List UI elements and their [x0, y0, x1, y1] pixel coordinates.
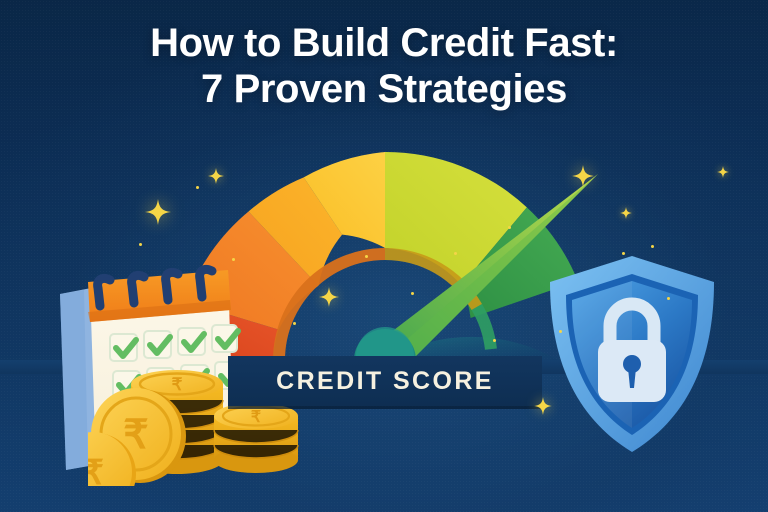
coin-stack-short: ₹: [214, 403, 298, 473]
sparkle-dot: [139, 243, 142, 246]
sparkle-dot: [667, 297, 670, 300]
credit-score-blog-hero: How to Build Credit Fast: 7 Proven Strat…: [0, 0, 768, 512]
page-title: How to Build Credit Fast: 7 Proven Strat…: [0, 20, 768, 113]
sparkle-dot: [411, 292, 414, 295]
sparkle-star: [319, 287, 339, 307]
sparkle-dot: [622, 252, 625, 255]
security-shield: [542, 252, 722, 458]
sparkle-dot: [493, 339, 496, 342]
sparkle-dot: [651, 245, 654, 248]
rupee-symbol-short: ₹: [251, 409, 261, 426]
sparkle-dot: [365, 255, 368, 258]
sparkle-dot: [454, 252, 457, 255]
rupee-symbol-tall: ₹: [172, 375, 183, 394]
sparkle-dot: [559, 330, 562, 333]
title-line-2: 7 Proven Strategies: [0, 66, 768, 112]
credit-score-banner: CREDIT SCORE: [228, 356, 542, 406]
sparkle-star: [534, 397, 552, 415]
sparkle-star: [572, 165, 594, 187]
sparkle-dot: [293, 322, 296, 325]
sparkle-star: [717, 165, 729, 177]
credit-score-label: CREDIT SCORE: [228, 356, 542, 406]
rupee-symbol-bottom: ₹: [88, 454, 104, 486]
sparkle-star: [620, 206, 632, 218]
title-line-1: How to Build Credit Fast:: [0, 20, 768, 66]
sparkle-dot: [508, 226, 511, 229]
sparkle-star: [208, 168, 224, 184]
calendar-back-page-shade: [60, 290, 88, 470]
sparkle-star: [145, 199, 171, 225]
sparkle-dot: [232, 258, 235, 261]
sparkle-dot: [196, 186, 199, 189]
